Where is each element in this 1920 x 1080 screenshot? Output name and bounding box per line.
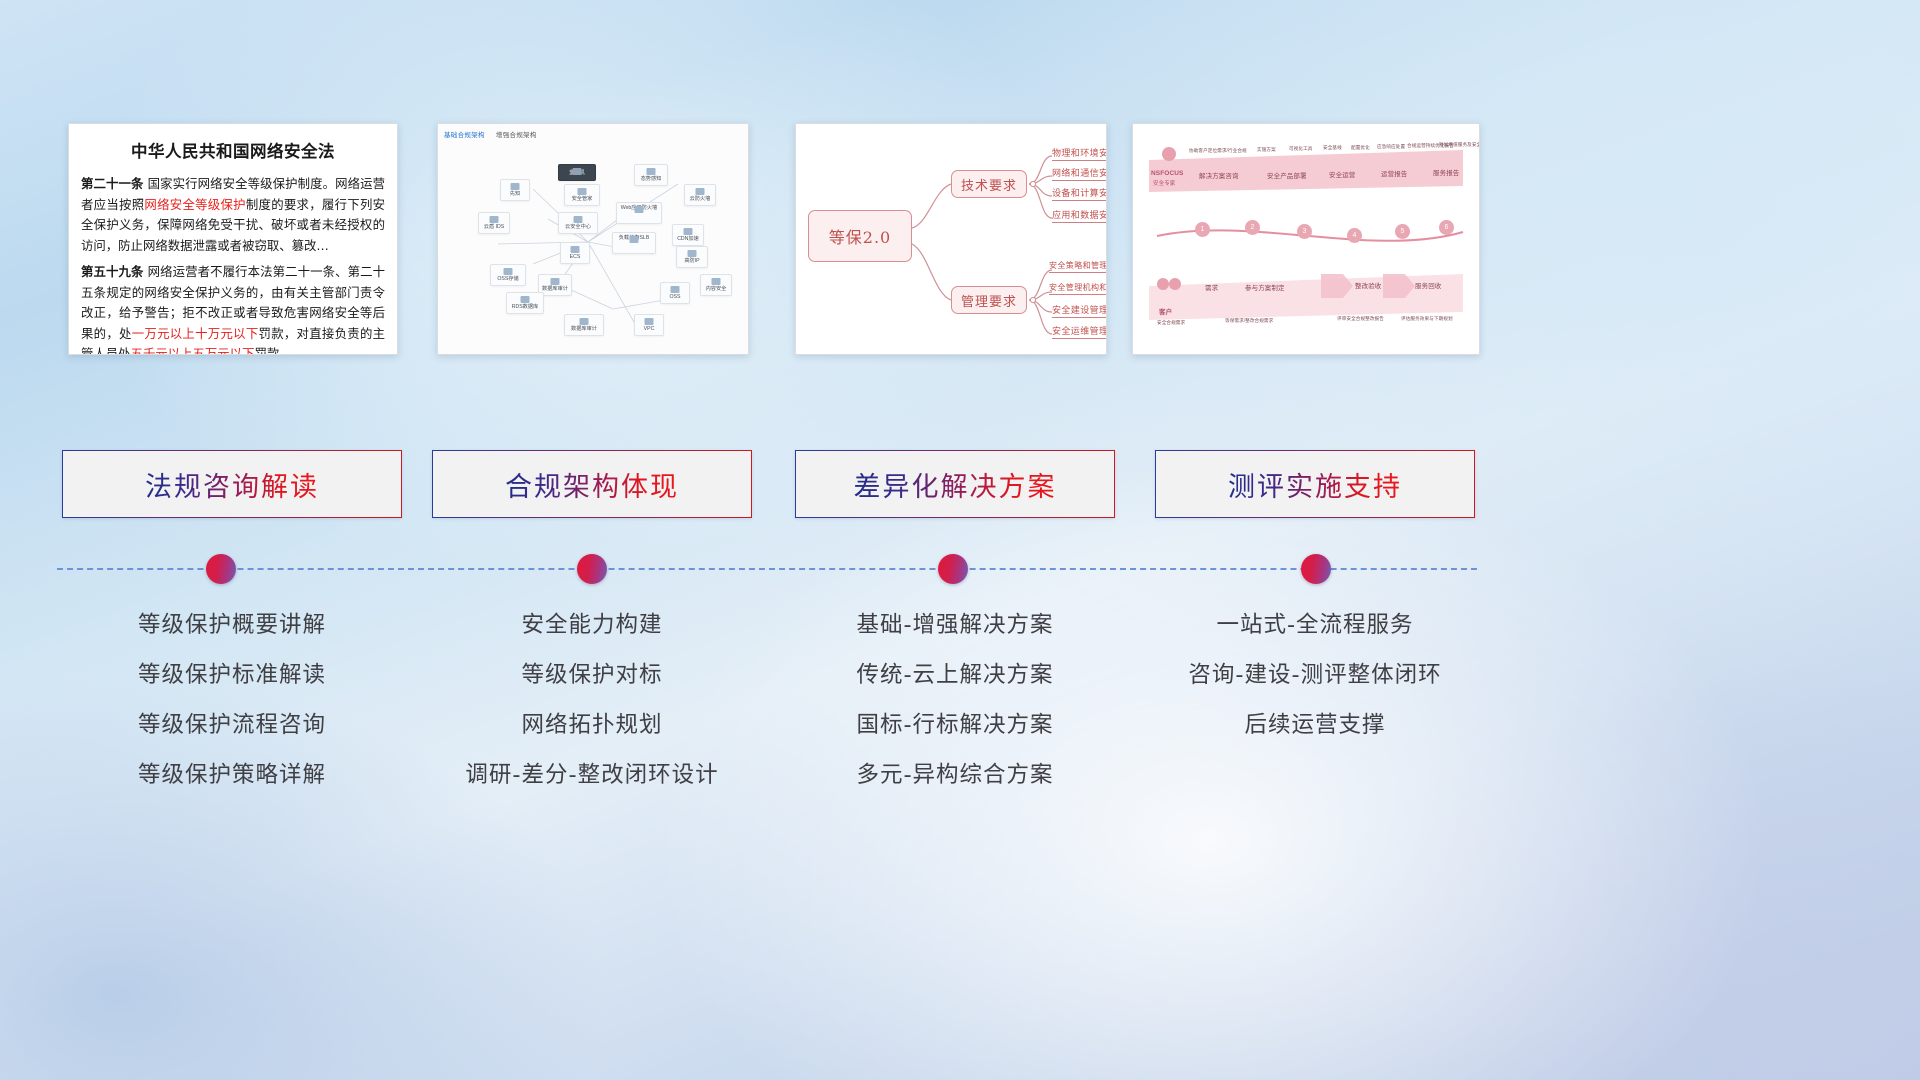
node-cloud-firewall: 云防火墙 xyxy=(684,184,716,206)
article-59-highlight-2: 五千元以上五万元以下 xyxy=(131,346,255,355)
mindmap-root-node: 等保2.0 xyxy=(808,210,912,262)
section-title-label-2: 合规架构体现 xyxy=(505,465,679,504)
roadmap-bottom-step-1: 需求 xyxy=(1205,282,1218,292)
roadmap-step-number-4: 4 xyxy=(1347,228,1362,243)
list-item: 传统-云上解决方案 xyxy=(795,650,1115,700)
roadmap-bottom-step-3: 整改验收 xyxy=(1355,280,1381,290)
section-title-label-4: 测评实施支持 xyxy=(1228,465,1402,504)
node-anti-ddos-ip: 高防IP xyxy=(676,246,708,268)
list-item: 等级保护流程咨询 xyxy=(62,700,402,750)
timeline-dot-1[interactable] xyxy=(206,554,236,584)
roadmap-brand: NSFOCUS xyxy=(1151,170,1183,177)
preview-card-law[interactable]: 中华人民共和国网络安全法 第二十一条 国家实行网络安全等级保护制度。网络运营者应… xyxy=(68,123,398,355)
roadmap-step-number-2: 2 xyxy=(1245,220,1260,235)
section-title-box-3[interactable]: 差异化解决方案 xyxy=(795,450,1115,518)
node-oss: OSS xyxy=(660,282,690,304)
mindmap-branch-management: 管理要求 xyxy=(951,286,1027,314)
architecture-diagram: 基础合规架构 增强合规架构 堡垒机 先知 安全管家 态势感知 xyxy=(438,124,748,354)
roadmap-diagram: NSFOCUS 安全专家 客户 解决方案咨询 安全产品部署 安全运营 运营报告 … xyxy=(1133,124,1479,354)
article-21-label: 第二十一条 xyxy=(81,176,144,191)
roadmap-brand-subtitle: 安全专家 xyxy=(1153,179,1175,187)
timeline xyxy=(0,548,1920,590)
list-item: 等级保护对标 xyxy=(432,650,752,700)
mindmap-leaf-tech-2: 网络和通信安全 xyxy=(1052,166,1107,181)
list-item: 咨询-建设-测评整体闭环 xyxy=(1155,650,1475,700)
law-article-59: 第五十九条 网络运营者不履行本法第二十一条、第二十五条规定的网络安全保护义务的，… xyxy=(81,262,385,355)
roadmap-top-note-8: 附加增值服务及安全运营报告 xyxy=(1439,142,1480,148)
detail-column-1: 等级保护概要讲解 等级保护标准解读 等级保护流程咨询 等级保护策略详解 xyxy=(62,600,402,800)
section-title-box-2[interactable]: 合规架构体现 xyxy=(432,450,752,518)
mindmap-leaf-mgmt-2: 安全管理机构和人员 xyxy=(1049,282,1107,295)
list-item: 基础-增强解决方案 xyxy=(795,600,1115,650)
roadmap-step-number-6: 6 xyxy=(1439,220,1454,235)
node-content-security: 内容安全 xyxy=(700,274,732,296)
preview-card-architecture[interactable]: 基础合规架构 增强合规架构 堡垒机 先知 安全管家 态势感知 xyxy=(437,123,749,355)
preview-card-mindmap[interactable]: 等保2.0 技术要求 管理要求 物理和环境安全 网络和通信安全 设备和计算安全 … xyxy=(795,123,1107,355)
roadmap-top-note-1: 协助客户定位需求/行业合规 xyxy=(1189,148,1247,154)
roadmap-bottom-note-4: 评估服务效果与下期规划 xyxy=(1401,316,1453,322)
detail-column-4: 一站式-全流程服务 咨询-建设-测评整体闭环 后续运营支撑 xyxy=(1155,600,1475,750)
roadmap-top-note-3: 可视化工具 xyxy=(1289,146,1312,152)
roadmap-bottom-step-4: 服务回收 xyxy=(1415,280,1441,290)
list-item: 等级保护概要讲解 xyxy=(62,600,402,650)
law-text-body: 中华人民共和国网络安全法 第二十一条 国家实行网络安全等级保护制度。网络运营者应… xyxy=(69,124,397,355)
node-bastion-host: 堡垒机 xyxy=(558,164,596,181)
list-item: 一站式-全流程服务 xyxy=(1155,600,1475,650)
roadmap-step-number-1: 1 xyxy=(1195,222,1210,237)
node-cloud-security-center: 云安全中心 xyxy=(558,212,598,234)
preview-cards-row: 中华人民共和国网络安全法 第二十一条 国家实行网络安全等级保护制度。网络运营者应… xyxy=(0,123,1920,357)
roadmap-bottom-note-3: 评审安全合规整改报告 xyxy=(1337,316,1384,322)
roadmap-customer-label: 客户 xyxy=(1159,306,1172,316)
mindmap-leaf-tech-1: 物理和环境安全 xyxy=(1052,146,1107,161)
roadmap-top-note-6: 应急响应处置 xyxy=(1377,144,1405,150)
mindmap-leaf-mgmt-4: 安全运维管理 xyxy=(1052,324,1107,339)
mindmap-leaf-tech-4: 应用和数据安全 xyxy=(1052,208,1107,223)
list-item: 调研-差分-整改闭环设计 xyxy=(432,750,752,800)
mindmap-leaf-tech-3: 设备和计算安全 xyxy=(1052,186,1107,201)
list-item: 后续运营支撑 xyxy=(1155,700,1475,750)
list-item: 多元-异构综合方案 xyxy=(795,750,1115,800)
node-database-audit: 数据库审计 xyxy=(564,314,604,336)
list-item: 网络拓扑规划 xyxy=(432,700,752,750)
node-situation-awareness: 态势感知 xyxy=(634,164,668,186)
timeline-dot-3[interactable] xyxy=(938,554,968,584)
node-vpc: VPC xyxy=(634,314,664,336)
mindmap-leaf-mgmt-1: 安全策略和管理制度 xyxy=(1049,260,1107,273)
roadmap-top-step-4: 运营报告 xyxy=(1381,168,1407,178)
node-web-application-firewall: Web应用防火墙 xyxy=(616,202,662,224)
node-xianzhi: 先知 xyxy=(500,179,530,201)
timeline-dashed-line xyxy=(57,568,1477,570)
article-59-label: 第五十九条 xyxy=(81,264,144,279)
list-item: 安全能力构建 xyxy=(432,600,752,650)
node-rds-database: RDS数据库 xyxy=(506,292,544,314)
law-title: 中华人民共和国网络安全法 xyxy=(81,138,385,162)
roadmap-step-number-5: 5 xyxy=(1395,224,1410,239)
mindmap-branch-technical: 技术要求 xyxy=(951,170,1027,198)
preview-card-roadmap[interactable]: NSFOCUS 安全专家 客户 解决方案咨询 安全产品部署 安全运营 运营报告 … xyxy=(1132,123,1480,355)
section-title-box-4[interactable]: 测评实施支持 xyxy=(1155,450,1475,518)
article-59-highlight-1: 一万元以上十万元以下 xyxy=(132,326,259,341)
section-title-label-1: 法规咨询解读 xyxy=(145,465,319,504)
roadmap-bottom-step-2: 参与方案制定 xyxy=(1245,282,1285,292)
roadmap-top-step-1: 解决方案咨询 xyxy=(1199,170,1239,180)
article-21-highlight: 网络安全等级保护 xyxy=(144,197,245,212)
section-title-box-1[interactable]: 法规咨询解读 xyxy=(62,450,402,518)
list-item: 等级保护策略详解 xyxy=(62,750,402,800)
node-cloud-ids: 云盾 IDS xyxy=(478,212,510,234)
roadmap-bottom-note-1: 安全合规需求 xyxy=(1157,320,1185,326)
detail-column-2: 安全能力构建 等级保护对标 网络拓扑规划 调研-差分-整改闭环设计 xyxy=(432,600,752,800)
node-cdn: CDN加速 xyxy=(672,224,704,246)
node-slb: 负载均衡SLB xyxy=(612,232,656,254)
roadmap-top-note-2: 实施方案 xyxy=(1257,147,1276,153)
roadmap-top-note-4: 安全基线 xyxy=(1323,145,1342,151)
roadmap-top-step-5: 服务报告 xyxy=(1433,167,1459,177)
roadmap-top-step-2: 安全产品部署 xyxy=(1267,170,1307,180)
law-article-21: 第二十一条 国家实行网络安全等级保护制度。网络运营者应当按照网络安全等级保护制度… xyxy=(81,174,385,256)
node-ecs: ECS xyxy=(560,242,590,264)
list-item: 国标-行标解决方案 xyxy=(795,700,1115,750)
mindmap-diagram: 等保2.0 技术要求 管理要求 物理和环境安全 网络和通信安全 设备和计算安全 … xyxy=(796,124,1106,354)
node-oss-storage: OSS存储 xyxy=(490,264,526,286)
node-security-butler: 安全管家 xyxy=(564,184,600,206)
list-item: 等级保护标准解读 xyxy=(62,650,402,700)
roadmap-top-note-5: 配置优化 xyxy=(1351,145,1370,151)
article-59-text-c: 罚款。 xyxy=(254,346,291,355)
section-titles-row: 法规咨询解读 合规架构体现 差异化解决方案 测评实施支持 xyxy=(0,450,1920,520)
roadmap-top-step-3: 安全运营 xyxy=(1329,169,1355,179)
timeline-dot-4[interactable] xyxy=(1301,554,1331,584)
roadmap-step-number-3: 3 xyxy=(1297,224,1312,239)
section-title-label-3: 差异化解决方案 xyxy=(854,465,1057,504)
mindmap-leaf-mgmt-3: 安全建设管理 xyxy=(1052,303,1107,318)
timeline-dot-2[interactable] xyxy=(577,554,607,584)
roadmap-bottom-note-2: 等保需求/整改合规需求 xyxy=(1225,318,1273,324)
detail-column-3: 基础-增强解决方案 传统-云上解决方案 国标-行标解决方案 多元-异构综合方案 xyxy=(795,600,1115,800)
